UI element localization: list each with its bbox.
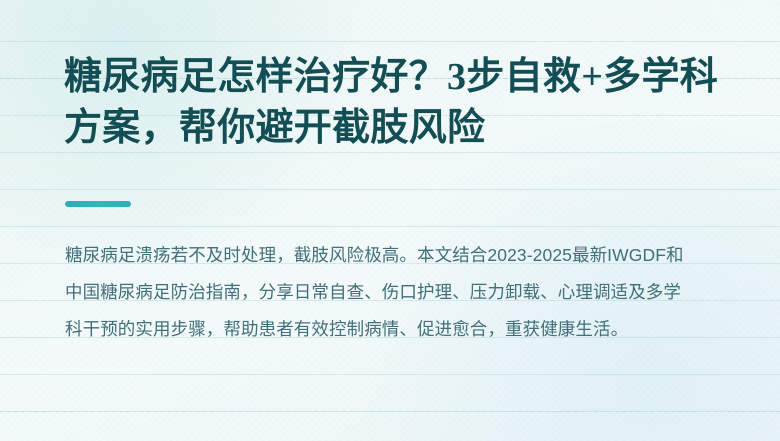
headline-accent-divider (65, 201, 131, 207)
cover-content: 糖尿病足怎样治疗好？3步自救+多学科方案，帮你避开截肢风险 糖尿病足溃疡若不及时… (64, 0, 724, 441)
article-cover-card: 糖尿病足怎样治疗好？3步自救+多学科方案，帮你避开截肢风险 糖尿病足溃疡若不及时… (0, 0, 780, 441)
article-headline: 糖尿病足怎样治疗好？3步自救+多学科方案，帮你避开截肢风险 (64, 52, 719, 154)
article-summary: 糖尿病足溃疡若不及时处理，截肢风险极高。本文结合2023-2025最新IWGDF… (65, 237, 689, 348)
